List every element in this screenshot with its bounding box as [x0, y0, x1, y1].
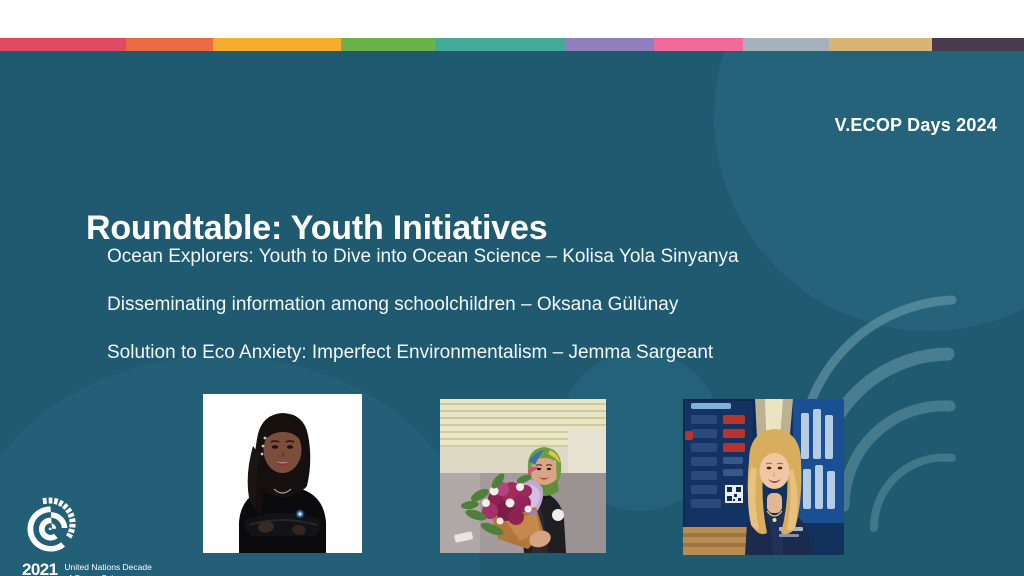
logo-caption: United Nations Decade of Ocean Science f… — [64, 561, 173, 576]
presentation-slide: V.ECOP Days 2024 Roundtable: Youth Initi… — [0, 0, 1024, 576]
logo-year-start: 2021 — [22, 561, 57, 576]
speaker-photo-jemma — [683, 399, 844, 555]
page-title: Roundtable: Youth Initiatives — [86, 209, 547, 248]
event-title-label: V.ECOP Days 2024 — [835, 115, 997, 136]
logo-caption-line: United Nations Decade — [64, 562, 173, 573]
logo-years: 2021 2030 — [22, 561, 57, 576]
talk-item: Ocean Explorers: Youth to Dive into Ocea… — [107, 246, 907, 269]
ocean-decade-wave-logo — [22, 495, 78, 555]
speaker-photo-oksana — [440, 399, 606, 553]
slide-body: V.ECOP Days 2024 Roundtable: Youth Initi… — [0, 51, 1024, 576]
talk-item: Disseminating information among schoolch… — [107, 294, 907, 317]
ocean-decade-logo: 2021 2030 United Nations Decade of Ocean… — [22, 495, 222, 576]
talk-list: Ocean Explorers: Youth to Dive into Ocea… — [107, 246, 907, 389]
top-white-band — [0, 0, 1024, 38]
speaker-photo-kolisa — [203, 394, 362, 553]
talk-item: Solution to Eco Anxiety: Imperfect Envir… — [107, 342, 907, 365]
